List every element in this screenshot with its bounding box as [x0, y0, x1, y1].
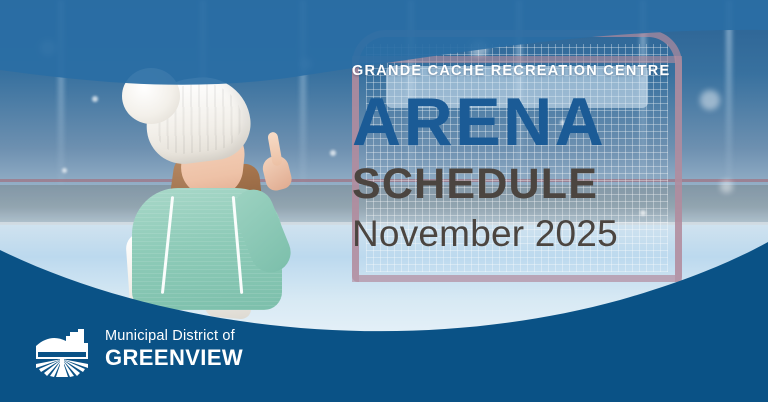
logo-wordmark: Municipal District of GREENVIEW [105, 329, 243, 369]
arena-schedule-poster: GRANDE CACHE RECREATION CENTRE ARENA SCH… [0, 0, 768, 402]
poster-month: November 2025 [352, 215, 752, 252]
poster-subtitle: SCHEDULE [352, 163, 752, 206]
poster-title: ARENA [352, 90, 752, 155]
poster-kicker: GRANDE CACHE RECREATION CENTRE [352, 64, 752, 79]
logo-line-2: GREENVIEW [105, 347, 243, 369]
greenview-logo: Municipal District of GREENVIEW [32, 320, 243, 378]
logo-line-1: Municipal District of [105, 329, 243, 344]
snow-bokeh [330, 150, 336, 156]
snow-bokeh [62, 168, 67, 173]
poster-copy-block: GRANDE CACHE RECREATION CENTRE ARENA SCH… [352, 64, 752, 252]
greenview-crest-icon [32, 320, 92, 378]
